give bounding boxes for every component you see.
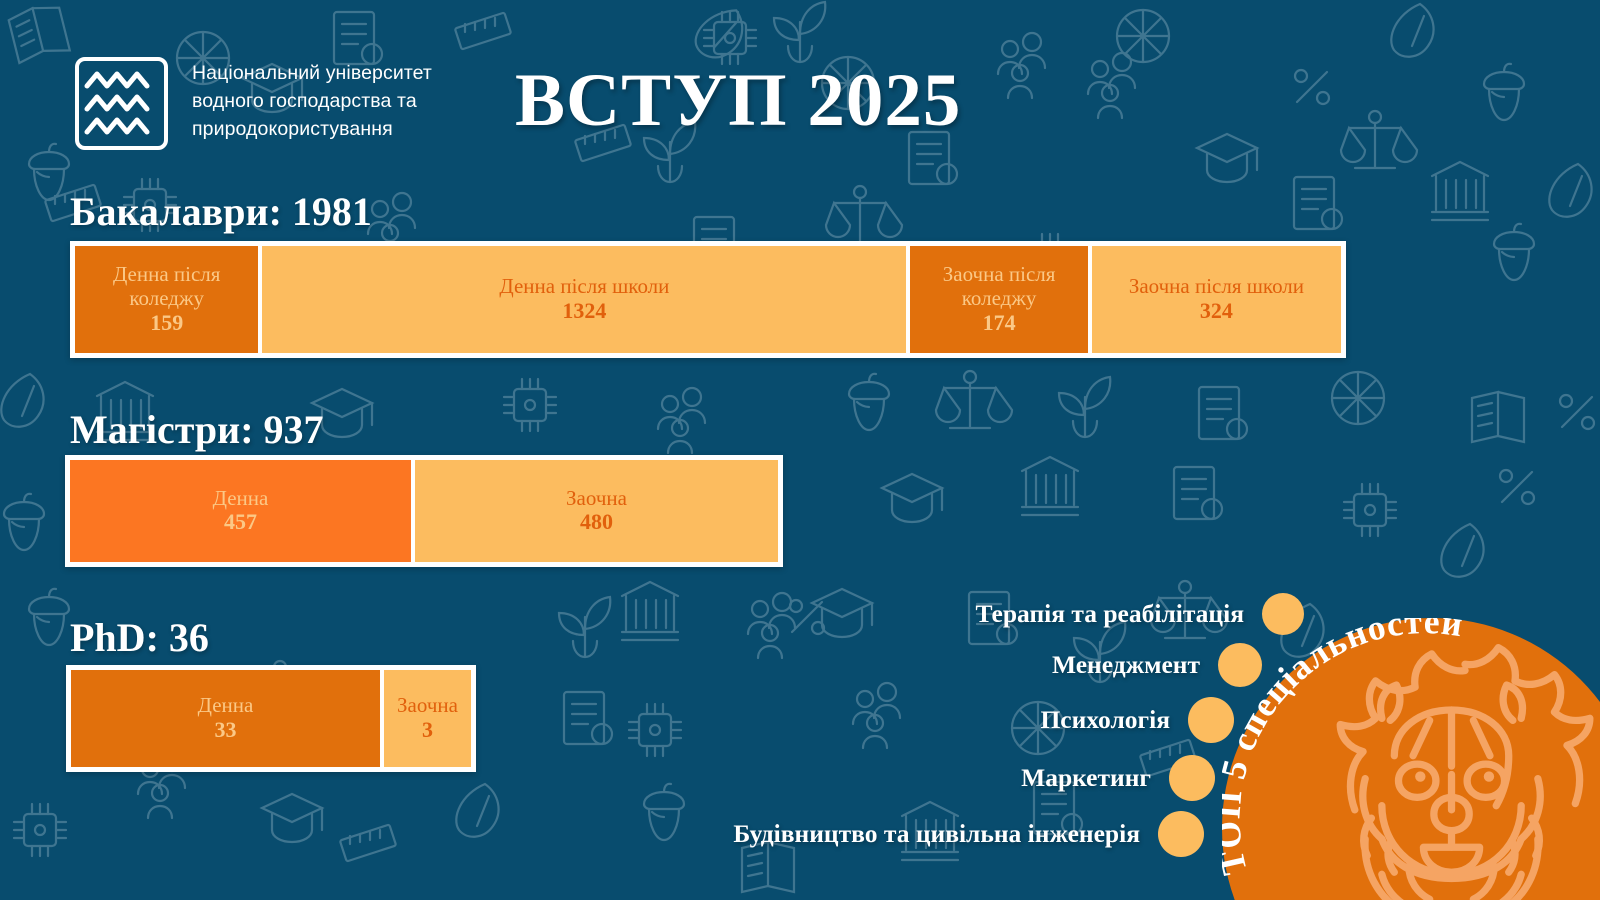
bar-bachelors: Денна після коледжу 159 Денна після школ… <box>70 241 1346 358</box>
segment-value: 3 <box>422 718 433 743</box>
top5-item-label: Менеджмент <box>1052 650 1200 680</box>
top5-item-label: Психологія <box>1040 705 1170 735</box>
bullet-dot <box>1158 811 1204 857</box>
bar-segment: Заочна 3 <box>384 670 471 767</box>
list-item: Будівництво та цивільна інженерія <box>733 811 1204 857</box>
bar-segment: Заочна 480 <box>415 460 778 562</box>
segment-value: 457 <box>224 510 257 535</box>
segment-label: Заочна <box>397 694 458 718</box>
page-title: ВСТУП 2025 <box>515 58 961 144</box>
segment-value: 159 <box>150 311 183 336</box>
segment-value: 174 <box>983 311 1016 336</box>
segment-value: 480 <box>580 510 613 535</box>
bar-segment: Заочна після коледжу 174 <box>910 246 1087 353</box>
bar-segment: Денна після коледжу 159 <box>75 246 258 353</box>
university-logo-icon <box>75 57 168 150</box>
bar-masters: Денна 457 Заочна 480 <box>65 455 783 567</box>
segment-label: Заочна <box>566 487 627 511</box>
top5-item-label: Маркетинг <box>1021 763 1151 793</box>
header: Національний університет водного господа… <box>0 0 1600 170</box>
bar-segment: Денна після школи 1324 <box>262 246 906 353</box>
list-item: Маркетинг <box>1021 755 1215 801</box>
group-title-masters: Магістри: 937 <box>70 406 324 453</box>
segment-label: Денна <box>213 487 269 511</box>
list-item: Психологія <box>1040 697 1234 743</box>
segment-label: Денна після коледжу <box>75 263 258 310</box>
segment-label: Заочна після коледжу <box>910 263 1087 310</box>
bar-segment: Денна 33 <box>71 670 380 767</box>
university-name: Національний університет водного господа… <box>192 60 492 144</box>
top5-badge: ТОП 5 спеціальностей <box>1222 618 1600 900</box>
bar-segment: Денна 457 <box>70 460 411 562</box>
group-title-phd: PhD: 36 <box>70 614 209 661</box>
bar-segment: Заочна після школи 324 <box>1092 246 1341 353</box>
group-title-bachelors: Бакалаври: 1981 <box>70 188 372 235</box>
segment-value: 324 <box>1200 299 1233 324</box>
segment-label: Заочна після школи <box>1129 275 1304 299</box>
top5-item-label: Терапія та реабілітація <box>976 599 1245 629</box>
segment-value: 1324 <box>562 299 606 324</box>
segment-label: Денна після школи <box>499 275 669 299</box>
lion-head-icon <box>1340 648 1590 900</box>
segment-label: Денна <box>198 694 254 718</box>
bar-phd: Денна 33 Заочна 3 <box>66 665 476 772</box>
top5-item-label: Будівництво та цивільна інженерія <box>733 819 1140 849</box>
segment-value: 33 <box>215 718 237 743</box>
bullet-dot <box>1169 755 1215 801</box>
